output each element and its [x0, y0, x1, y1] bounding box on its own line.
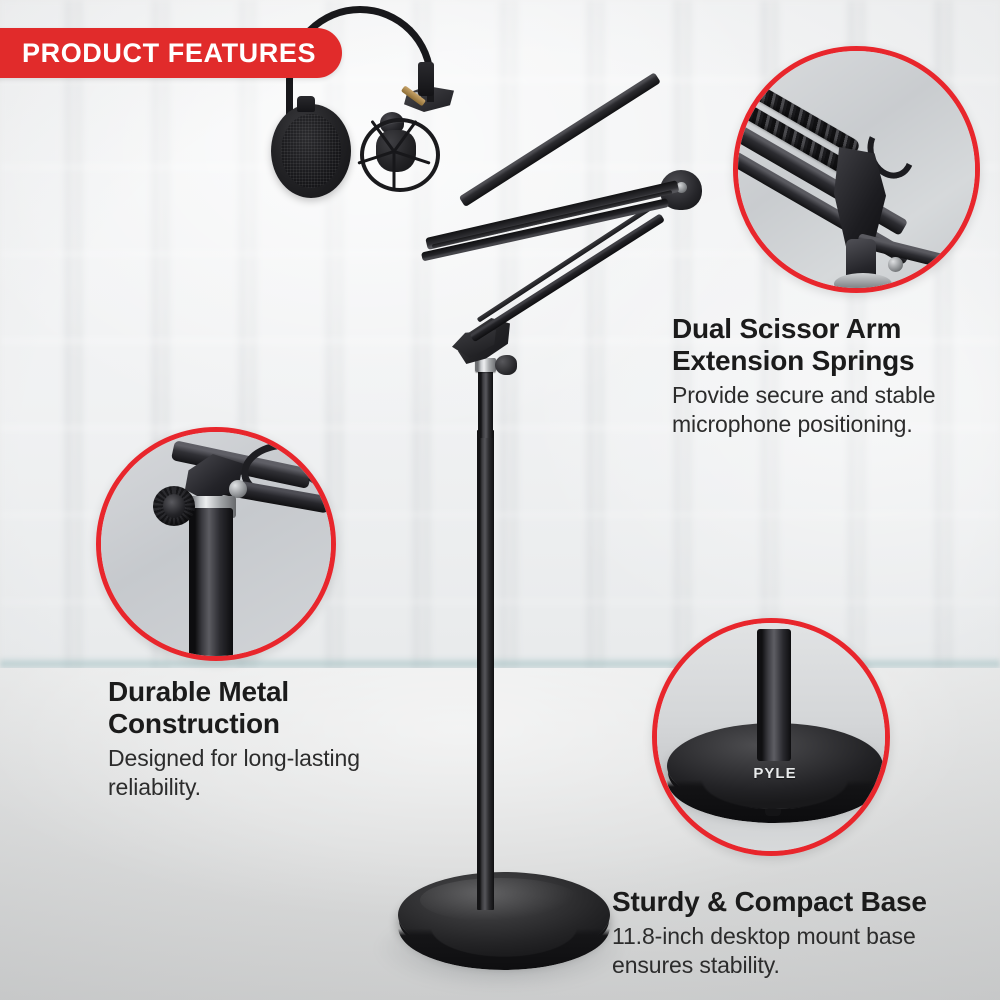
- product-features-badge: PRODUCT FEATURES: [0, 28, 342, 78]
- badge-label: PRODUCT FEATURES: [22, 38, 316, 69]
- shock-mount-spoke: [393, 152, 396, 190]
- pop-filter-neck: [297, 96, 315, 112]
- callout-springs-body-line2: microphone positioning.: [672, 410, 988, 439]
- metal-pole-detail-inset: [96, 427, 336, 661]
- base-foot: [765, 809, 781, 816]
- callout-base: Sturdy & Compact Base 11.8-inch desktop …: [612, 886, 992, 980]
- spring-inset-content: [738, 51, 975, 288]
- callout-metal-body: Designed for long-lasting reliability.: [108, 744, 416, 802]
- metal-pole-tube: [189, 508, 233, 656]
- pop-filter-clamp: [418, 62, 434, 96]
- product-features-infographic: PRODUCT FEATURES: [0, 0, 1000, 1000]
- callout-base-title-line1: Sturdy & Compact Base: [612, 886, 992, 918]
- callout-base-body-line1: 11.8-inch desktop mount base: [612, 922, 992, 951]
- callout-springs-body: Provide secure and stable microphone pos…: [672, 381, 988, 439]
- stand-pole-lower: [477, 430, 494, 910]
- callout-base-body-line2: ensures stability.: [612, 951, 992, 980]
- base-detail-inset: PYLE: [652, 618, 890, 856]
- pole-knob-face: [163, 494, 185, 518]
- scissor-arm-chrome-collar: [834, 273, 892, 288]
- callout-metal-title-line1: Durable Metal: [108, 676, 416, 708]
- base-pole-detail: [757, 629, 791, 761]
- spring-detail-inset: [733, 46, 980, 293]
- callout-metal: Durable Metal Construction Designed for …: [108, 676, 416, 802]
- callout-base-body: 11.8-inch desktop mount base ensures sta…: [612, 922, 992, 980]
- pop-filter-mesh: [281, 114, 341, 188]
- callout-base-title: Sturdy & Compact Base: [612, 886, 992, 918]
- metal-inset-content: [101, 432, 331, 656]
- callout-metal-body-line2: reliability.: [108, 773, 416, 802]
- callout-springs-body-line1: Provide secure and stable: [672, 381, 988, 410]
- pyle-brand-logo: PYLE: [735, 765, 815, 782]
- callout-springs-title-line2: Extension Springs: [672, 345, 988, 377]
- stand-base-highlight: [420, 878, 580, 922]
- boom-arm-lower-bar-top: [459, 72, 661, 207]
- callout-springs-title: Dual Scissor Arm Extension Springs: [672, 313, 988, 377]
- callout-springs: Dual Scissor Arm Extension Springs Provi…: [672, 313, 988, 439]
- callout-springs-title-line1: Dual Scissor Arm: [672, 313, 988, 345]
- stand-height-adjust-knob: [495, 355, 517, 375]
- base-inset-content: PYLE: [657, 623, 885, 851]
- shock-mount: [356, 112, 436, 190]
- callout-metal-title: Durable Metal Construction: [108, 676, 416, 740]
- callout-metal-title-line2: Construction: [108, 708, 416, 740]
- stand-pole-upper: [478, 368, 493, 438]
- scissor-arm-bolt: [888, 257, 903, 272]
- callout-metal-body-line1: Designed for long-lasting: [108, 744, 416, 773]
